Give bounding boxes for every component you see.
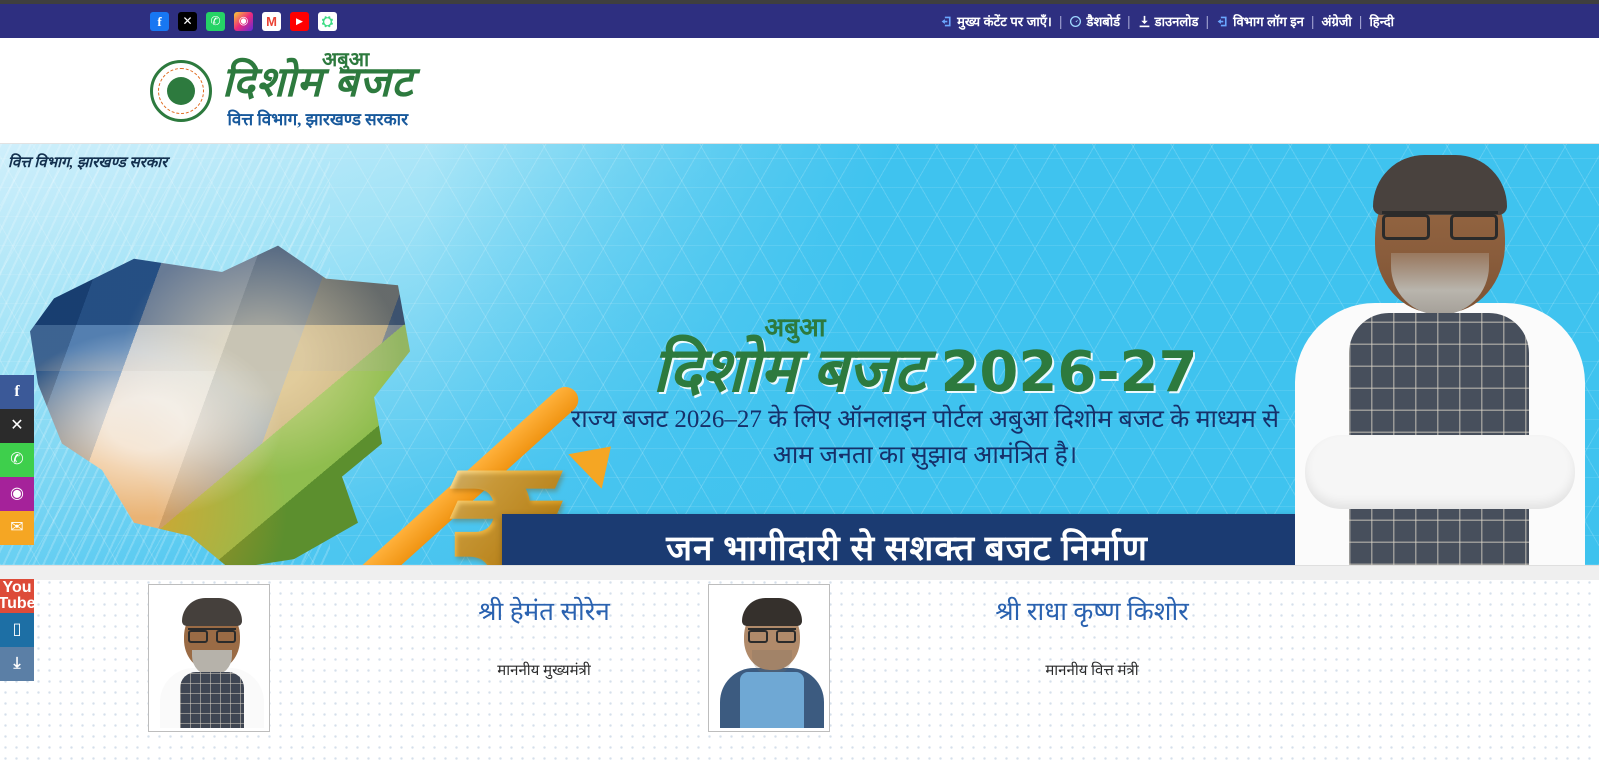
youtube-float-icon[interactable]: You Tube xyxy=(0,579,34,613)
nav-download-label: डाउनलोड xyxy=(1155,12,1199,30)
chief-minister-portrait xyxy=(148,584,270,732)
download-icon xyxy=(1138,15,1151,28)
leaders-section: श्री हेमंत सोरेन माननीय मुख्यमंत्री श्री… xyxy=(0,565,1599,766)
top-navigation: मुख्य कंटेंट पर जाएँ। | डैशबोर्ड | डाउनल… xyxy=(933,4,1401,38)
x-twitter-icon[interactable]: ✕ xyxy=(178,12,197,31)
whatsapp-icon[interactable]: ✆ xyxy=(206,12,225,31)
sign-in-icon xyxy=(1216,15,1229,28)
banner-sub-paragraph: राज्य बजट 2026–27 के लिए ऑनलाइन पोर्टल अ… xyxy=(555,402,1295,475)
nav-dashboard-label: डैशबोर्ड xyxy=(1086,12,1120,30)
nav-department-login-label: विभाग लॉग इन xyxy=(1233,12,1304,30)
site-header: अबुआ दिशोम बजट वित्त विभाग, झारखण्ड सरका… xyxy=(0,38,1599,144)
sign-in-icon xyxy=(940,15,953,28)
banner-headline: अबुआ दिशोम बजट 2026-27 xyxy=(545,304,1305,402)
instagram-float-icon[interactable]: ◉ xyxy=(0,477,34,511)
nav-language-hindi-label: हिन्दी xyxy=(1369,12,1394,30)
top-bar: f ✕ ✆ ◉ M ▶ ⛭ मुख्य कंटेंट पर जाएँ। | डै… xyxy=(0,0,1599,38)
banner-slogan-line1: जन भागीदारी से सशक्त बजट निर्माण xyxy=(666,524,1148,565)
top-social-strip: f ✕ ✆ ◉ M ▶ ⛭ xyxy=(150,4,337,38)
social-spacer xyxy=(0,545,34,579)
android-icon[interactable]: ⛭ xyxy=(318,12,337,31)
banner-slogan-box: जन भागीदारी से सशक्त बजट निर्माण आम जनता… xyxy=(502,514,1312,565)
banner-title-abua: अबुआ xyxy=(415,308,1175,344)
facebook-icon[interactable]: f xyxy=(150,12,169,31)
nav-language-english[interactable]: अंग्रेजी xyxy=(1315,12,1359,30)
banner-title-year: 2026-27 xyxy=(940,340,1197,405)
leader-card-chief-minister: श्री हेमंत सोरेन माननीय मुख्यमंत्री xyxy=(148,584,714,732)
nav-dashboard[interactable]: डैशबोर्ड xyxy=(1062,12,1127,30)
logo-subtitle: वित्त विभाग, झारखण्ड सरकार xyxy=(222,107,414,130)
chief-minister-banner-photo xyxy=(1289,145,1589,565)
finance-minister-portrait xyxy=(708,584,830,732)
gmail-icon[interactable]: M xyxy=(262,12,281,31)
finance-minister-role: माननीय वित्त मंत्री xyxy=(922,660,1262,680)
nav-skip-to-content[interactable]: मुख्य कंटेंट पर जाएँ। xyxy=(933,12,1059,30)
download-float-icon[interactable]: ⤓ xyxy=(0,647,34,681)
nav-language-english-label: अंग्रेजी xyxy=(1322,12,1352,30)
instagram-icon[interactable]: ◉ xyxy=(234,12,253,31)
jharkhand-state-emblem-icon xyxy=(150,60,212,122)
chief-minister-name: श्री हेमंत सोरेन xyxy=(374,592,714,628)
logo-main-text: दिशोम बजट xyxy=(222,51,414,105)
leader-card-finance-minister: श्री राधा कृष्ण किशोर माननीय वित्त मंत्र… xyxy=(708,584,1262,732)
chief-minister-role: माननीय मुख्यमंत्री xyxy=(374,660,714,680)
banner-department-label: वित्त विभाग, झारखण्ड सरकार xyxy=(8,152,167,172)
nav-language-hindi[interactable]: हिन्दी xyxy=(1362,12,1401,30)
youtube-icon[interactable]: ▶ xyxy=(290,12,309,31)
nav-skip-to-content-label: मुख्य कंटेंट पर जाएँ। xyxy=(957,12,1052,30)
banner-title-main: दिशोम बजट 2026-27 xyxy=(545,340,1305,402)
floating-social-sidebar: f ✕ ✆ ◉ ✉ You Tube ▯ ⤓ xyxy=(0,375,34,681)
whatsapp-float-icon[interactable]: ✆ xyxy=(0,443,34,477)
hero-banner: वित्त विभाग, झारखण्ड सरकार ₹ अबुआ दिशोम … xyxy=(0,144,1599,565)
x-twitter-float-icon[interactable]: ✕ xyxy=(0,409,34,443)
email-float-icon[interactable]: ✉ xyxy=(0,511,34,545)
nav-download[interactable]: डाउनलोड xyxy=(1131,12,1206,30)
nav-department-login[interactable]: विभाग लॉग इन xyxy=(1209,12,1311,30)
dashboard-icon xyxy=(1069,15,1082,28)
finance-minister-name: श्री राधा कृष्ण किशोर xyxy=(922,592,1262,628)
facebook-float-icon[interactable]: f xyxy=(0,375,34,409)
site-logo[interactable]: अबुआ दिशोम बजट वित्त विभाग, झारखण्ड सरका… xyxy=(222,51,414,130)
logo-abua-text: अबुआ xyxy=(322,45,369,72)
banner-title-main-text: दिशोम बजट xyxy=(653,337,925,405)
mobile-app-float-icon[interactable]: ▯ xyxy=(0,613,34,647)
